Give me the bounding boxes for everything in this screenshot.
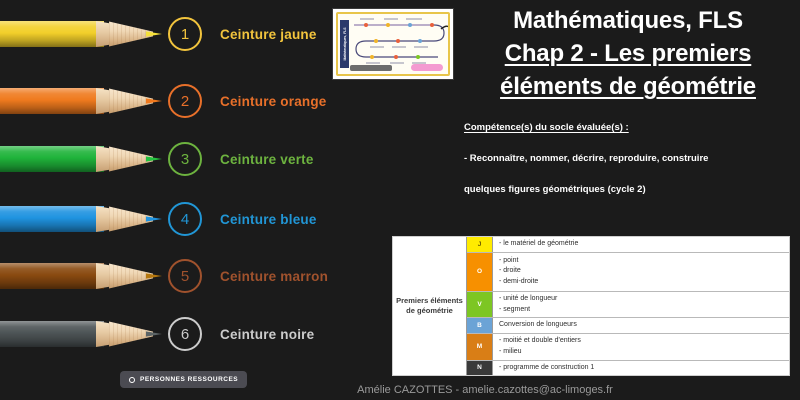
competency-heading: Compétence(s) du socle évaluée(s) : xyxy=(464,122,794,133)
belt-number-3: 3 xyxy=(168,142,202,176)
pencil-body xyxy=(0,263,104,289)
table-row-header: Premiers éléments de géométrie xyxy=(393,237,467,375)
thumbnail-pink-pill xyxy=(411,64,443,71)
belt-label-6: Ceinture noire xyxy=(220,327,314,342)
pencil-body xyxy=(0,21,104,47)
gear-icon xyxy=(129,377,135,383)
table-belt-code: O xyxy=(467,253,493,291)
page-title: Mathématiques, FLSChap 2 - Les premiersé… xyxy=(458,4,798,103)
table-belt-code: M xyxy=(467,334,493,360)
competency-block: Compétence(s) du socle évaluée(s) : - Re… xyxy=(464,122,794,195)
slide-canvas: 1Ceinture jaune2Ceinture orange3Ceinture… xyxy=(0,0,800,400)
pencil-collar xyxy=(96,21,110,47)
pencil-body xyxy=(0,146,104,172)
belt-number-4: 4 xyxy=(168,202,202,236)
personnes-ressources-label: PERSONNES RESSOURCES xyxy=(140,376,238,383)
table-item: - programme de construction 1 xyxy=(499,363,789,374)
table-cell-items: - unité de longueur- segment xyxy=(493,292,789,318)
belt-label-5: Ceinture marron xyxy=(220,269,328,284)
table-row: V- unité de longueur- segment xyxy=(467,292,789,319)
table-cell-items: Conversion de longueurs xyxy=(493,318,789,333)
belt-number-1: 1 xyxy=(168,17,202,51)
progression-table: Premiers éléments de géométrie J- le mat… xyxy=(392,236,790,376)
belt-row-4[interactable]: 4Ceinture bleue xyxy=(168,202,317,236)
thumbnail-inner: Mathématiques, FLS xyxy=(336,12,450,76)
belt-number-5: 5 xyxy=(168,259,202,293)
table-item: - point xyxy=(499,256,789,267)
table-row: N- programme de construction 1 xyxy=(467,361,789,376)
table-item: - droite xyxy=(499,266,789,277)
belt-label-3: Ceinture verte xyxy=(220,152,314,167)
table-cell-items: - point- droite- demi-droite xyxy=(493,253,789,291)
table-item: Conversion de longueurs xyxy=(499,320,789,331)
pencil-body xyxy=(0,206,104,232)
belt-row-6[interactable]: 6Ceinture noire xyxy=(168,317,314,351)
table-belt-code: J xyxy=(467,237,493,252)
pencil-tip xyxy=(146,21,162,47)
table-cell-items: - le matériel de géométrie xyxy=(493,237,789,252)
table-row: BConversion de longueurs xyxy=(467,318,789,334)
title-line-1: Mathématiques, FLS xyxy=(458,4,798,37)
competency-line-1: - Reconnaître, nommer, décrire, reprodui… xyxy=(464,153,794,164)
pencil-collar xyxy=(96,321,110,347)
pencil-tip xyxy=(146,321,162,347)
pencil-tip xyxy=(146,263,162,289)
belt-label-2: Ceinture orange xyxy=(220,94,327,109)
table-row: J- le matériel de géométrie xyxy=(467,237,789,253)
table-belt-code: N xyxy=(467,361,493,376)
pencil-tip xyxy=(146,206,162,232)
table-rows: J- le matériel de géométrieO- point- dro… xyxy=(467,237,789,375)
table-belt-code: B xyxy=(467,318,493,333)
competency-line-2: quelques figures géométriques (cycle 2) xyxy=(464,184,794,195)
thumbnail-sidebar-label: Mathématiques, FLS xyxy=(343,28,347,61)
pencil-collar xyxy=(96,263,110,289)
belt-number-6: 6 xyxy=(168,317,202,351)
title-line-3: éléments de géométrie xyxy=(458,70,798,103)
pencil-collar xyxy=(96,206,110,232)
author-credit: Amélie CAZOTTES - amelie.cazottes@ac-lim… xyxy=(0,384,800,396)
table-item: - le matériel de géométrie xyxy=(499,239,789,250)
table-item: - segment xyxy=(499,305,789,316)
table-item: - demi-droite xyxy=(499,277,789,288)
belt-label-1: Ceinture jaune xyxy=(220,27,317,42)
table-row: O- point- droite- demi-droite xyxy=(467,253,789,292)
belt-row-1[interactable]: 1Ceinture jaune xyxy=(168,17,317,51)
table-item: - milieu xyxy=(499,347,789,358)
pencil-tip xyxy=(146,88,162,114)
belt-row-3[interactable]: 3Ceinture verte xyxy=(168,142,314,176)
title-line-2: Chap 2 - Les premiers xyxy=(458,37,798,70)
belt-row-2[interactable]: 2Ceinture orange xyxy=(168,84,327,118)
table-row: M- moitié et double d'entiers- milieu xyxy=(467,334,789,361)
pencil-collar xyxy=(96,146,110,172)
belt-label-4: Ceinture bleue xyxy=(220,212,317,227)
pencil-tip xyxy=(146,146,162,172)
pencil-collar xyxy=(96,88,110,114)
table-cell-items: - programme de construction 1 xyxy=(493,361,789,376)
thumbnail-bottom-bar xyxy=(350,65,392,71)
parcours-thumbnail[interactable]: Mathématiques, FLS xyxy=(332,8,454,80)
table-cell-items: - moitié et double d'entiers- milieu xyxy=(493,334,789,360)
pencil-body xyxy=(0,321,104,347)
pencil-body xyxy=(0,88,104,114)
table-item: - unité de longueur xyxy=(499,294,789,305)
table-belt-code: V xyxy=(467,292,493,318)
table-item: - moitié et double d'entiers xyxy=(499,336,789,347)
belt-number-2: 2 xyxy=(168,84,202,118)
belt-row-5[interactable]: 5Ceinture marron xyxy=(168,259,328,293)
